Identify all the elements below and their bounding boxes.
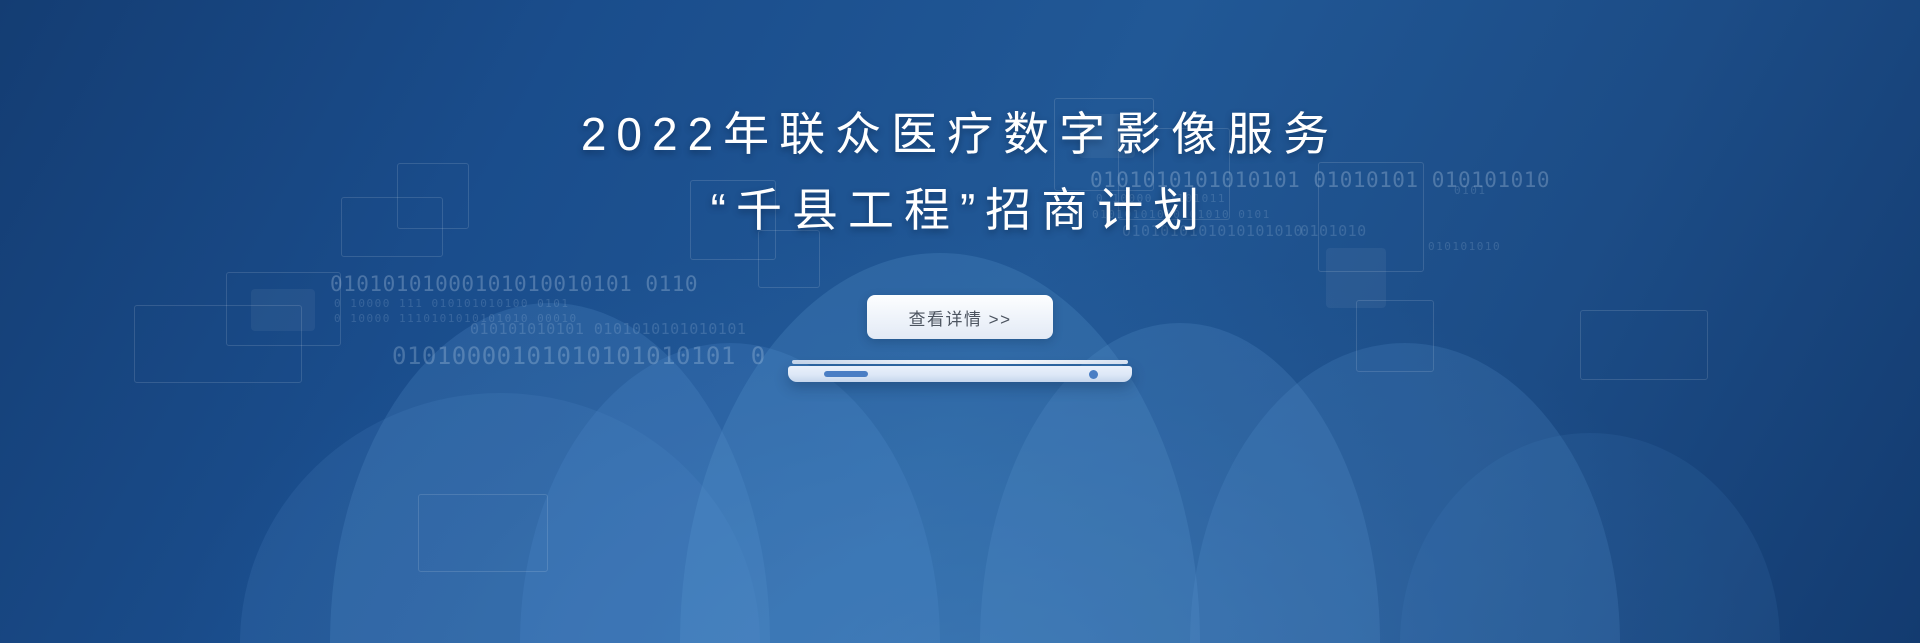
laptop-device-illustration bbox=[788, 360, 1132, 382]
promo-banner: 01010101000101010010101 0110 0 10000 111… bbox=[0, 0, 1920, 643]
power-indicator-icon bbox=[824, 371, 868, 377]
binary-decor-1: 01010101000101010010101 0110 bbox=[330, 272, 698, 296]
banner-headline: 2022年联众医疗数字影像服务 “千县工程”招商计划 bbox=[0, 96, 1920, 248]
camera-dot-icon bbox=[1089, 370, 1098, 379]
view-details-button[interactable]: 查看详情 >> bbox=[867, 295, 1053, 339]
cta-container: 查看详情 >> bbox=[0, 295, 1920, 339]
headline-line-1: 2022年联众医疗数字影像服务 bbox=[0, 96, 1920, 172]
outline-rect-bottom-left bbox=[418, 494, 548, 572]
device-base-body bbox=[788, 366, 1132, 382]
headline-line-2: “千县工程”招商计划 bbox=[0, 172, 1920, 248]
binary-decor-4: 01010000101010101010101 0 bbox=[392, 342, 766, 370]
